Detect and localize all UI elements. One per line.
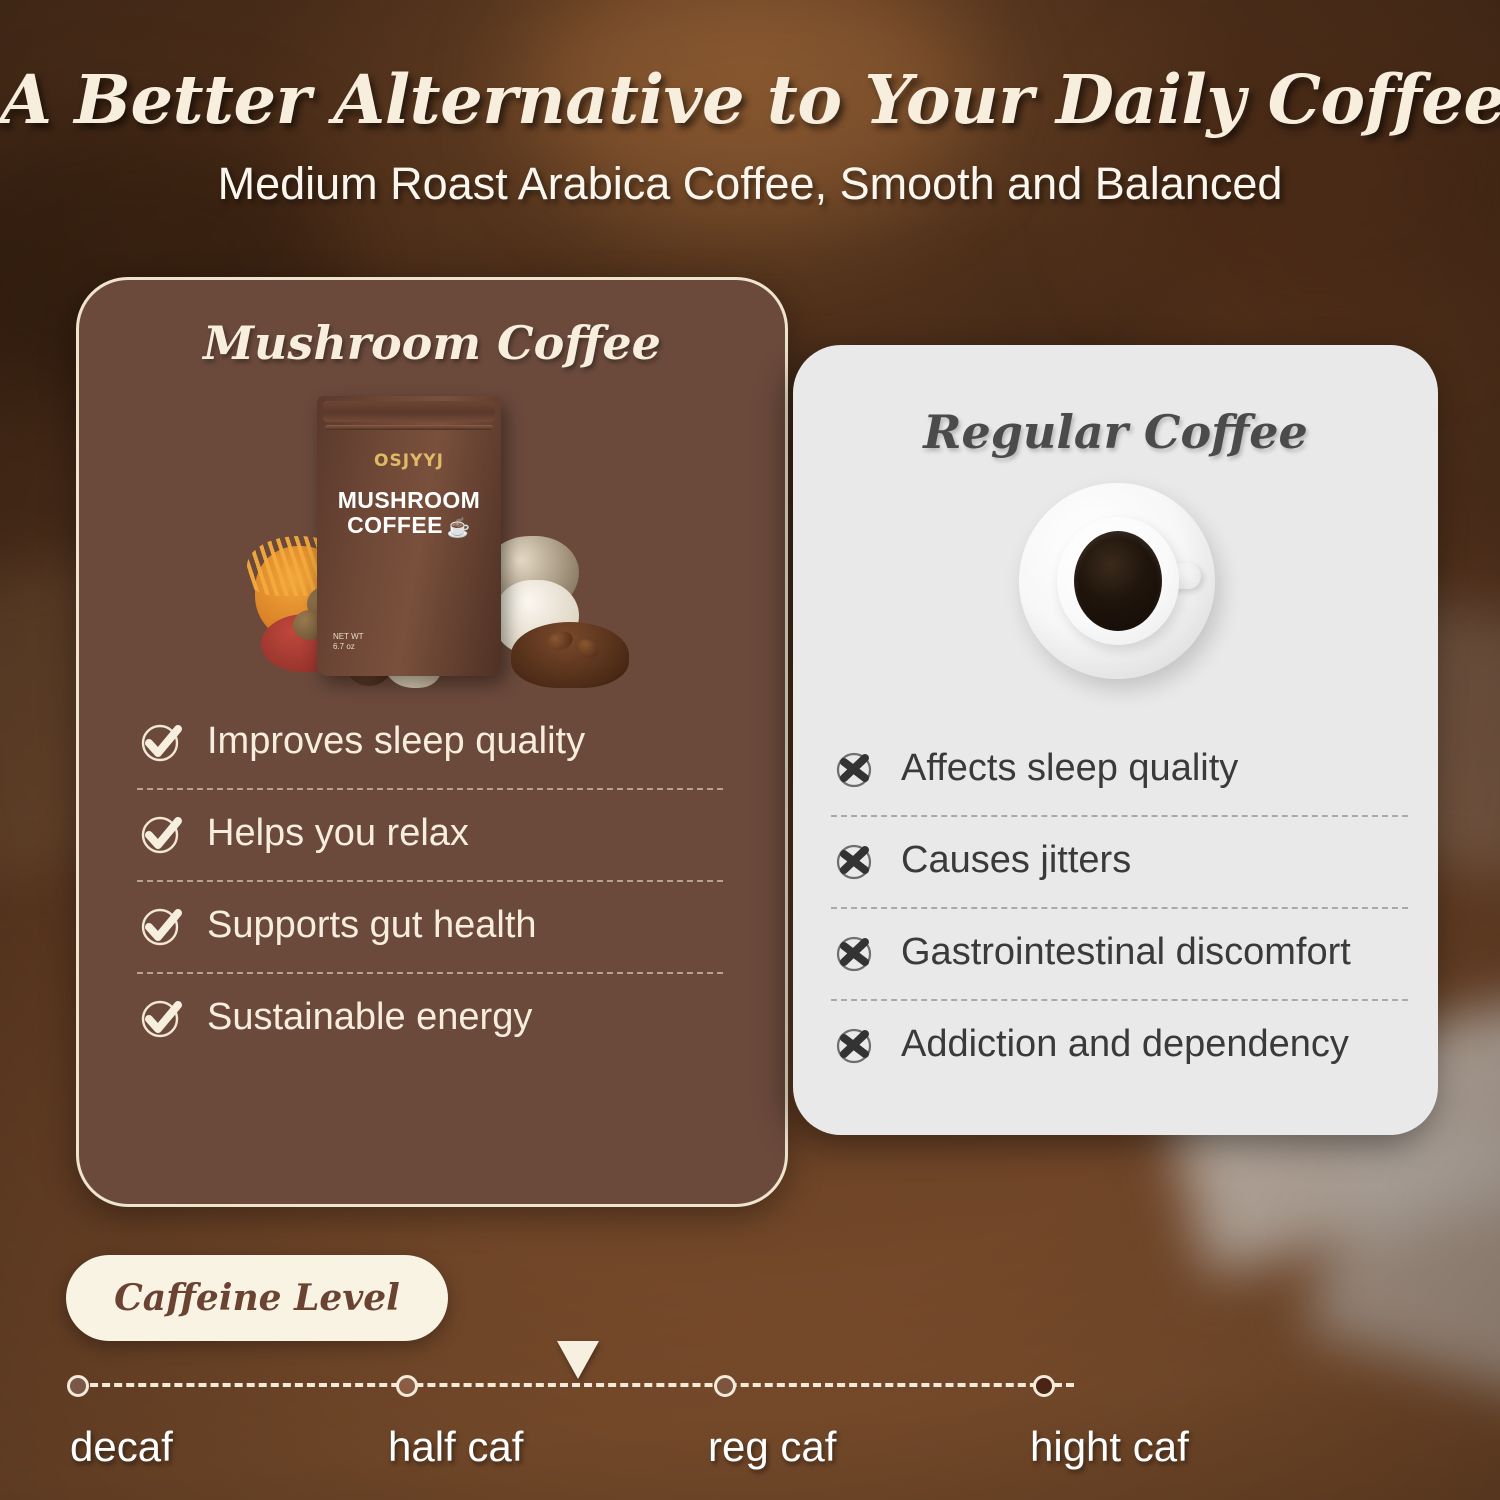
scale-label-hight-caf: hight caf (1030, 1423, 1189, 1471)
coffee-cup-icon: ☕ (447, 516, 471, 541)
caffeine-scale-track (78, 1383, 1074, 1391)
list-divider (831, 999, 1408, 1001)
regular-coffee-card: Regular Coffee Affects sleep quality (793, 345, 1438, 1135)
caffeine-level-label: Caffeine Level (114, 1277, 400, 1319)
coffee-liquid (1074, 531, 1162, 631)
scale-label-half-caf: half caf (388, 1423, 523, 1471)
list-item: Addiction and dependency (831, 1021, 1408, 1069)
check-circle-icon (137, 718, 185, 766)
scale-stop-reg-caf[interactable] (714, 1375, 736, 1397)
bag-net-weight: NET WT6.7 oz (333, 632, 364, 652)
caffeine-level-pointer (557, 1341, 599, 1379)
check-circle-icon (137, 810, 185, 858)
list-item-label: Causes jitters (901, 840, 1131, 882)
list-item-label: Addiction and dependency (901, 1024, 1349, 1066)
list-item: Helps you relax (137, 810, 723, 858)
list-item: Gastrointestinal discomfort (831, 929, 1408, 977)
regular-card-title: Regular Coffee (793, 405, 1438, 459)
scale-stop-hight-caf[interactable] (1033, 1375, 1055, 1397)
caffeine-level-section: Caffeine Level decaf half caf reg caf hi… (0, 1255, 1500, 1500)
list-item-label: Supports gut health (207, 905, 537, 947)
x-circle-icon (831, 837, 879, 885)
list-divider (831, 815, 1408, 817)
scale-label-reg-caf: reg caf (708, 1423, 836, 1471)
page-subtitle: Medium Roast Arabica Coffee, Smooth and … (0, 161, 1500, 206)
list-item: Supports gut health (137, 902, 723, 950)
mushroom-card-title: Mushroom Coffee (79, 316, 785, 370)
list-item-label: Sustainable energy (207, 997, 532, 1039)
check-circle-icon (137, 902, 185, 950)
coffee-grounds-pile (511, 622, 629, 688)
header: A Better Alternative to Your Daily Coffe… (0, 0, 1500, 206)
list-item: Causes jitters (831, 837, 1408, 885)
x-circle-icon (831, 1021, 879, 1069)
scale-label-decaf: decaf (70, 1423, 173, 1471)
x-circle-icon (831, 745, 879, 793)
coffee-cup-image (793, 459, 1438, 727)
list-item-label: Affects sleep quality (901, 748, 1238, 790)
list-item: Affects sleep quality (831, 745, 1408, 793)
bag-product-name-line2: COFFEE (347, 512, 443, 538)
list-item-label: Gastrointestinal discomfort (901, 932, 1351, 974)
list-divider (137, 972, 723, 974)
bag-product-name-line1: MUSHROOM (338, 487, 480, 513)
scale-stop-half-caf[interactable] (396, 1375, 418, 1397)
scale-stop-decaf[interactable] (67, 1375, 89, 1397)
list-item-label: Improves sleep quality (207, 721, 585, 763)
page-title: A Better Alternative to Your Daily Coffe… (0, 66, 1500, 133)
bag-product-name: MUSHROOM COFFEE☕ (317, 488, 501, 541)
list-item-label: Helps you relax (207, 813, 469, 855)
list-item: Sustainable energy (137, 994, 723, 1042)
x-circle-icon (831, 929, 879, 977)
list-divider (137, 788, 723, 790)
list-divider (831, 907, 1408, 909)
caffeine-level-badge: Caffeine Level (66, 1255, 448, 1341)
check-circle-icon (137, 994, 185, 1042)
list-divider (137, 880, 723, 882)
product-bag: OSJYYJ MUSHROOM COFFEE☕ NET WT6.7 oz (317, 396, 501, 676)
bag-top-fold (323, 401, 495, 422)
mushroom-product-image: OSJYYJ MUSHROOM COFFEE☕ NET WT6.7 oz (79, 378, 791, 718)
bag-zip-seal (325, 425, 493, 430)
mushroom-benefits-list: Improves sleep quality Helps you relax S… (79, 718, 785, 1042)
mushroom-coffee-card: Mushroom Coffee OSJYYJ MUSHROOM COFFEE☕ … (76, 277, 788, 1207)
brand-logo: OSJYYJ (317, 451, 501, 471)
list-item: Improves sleep quality (137, 718, 723, 766)
regular-drawbacks-list: Affects sleep quality Causes jitters (793, 745, 1438, 1069)
